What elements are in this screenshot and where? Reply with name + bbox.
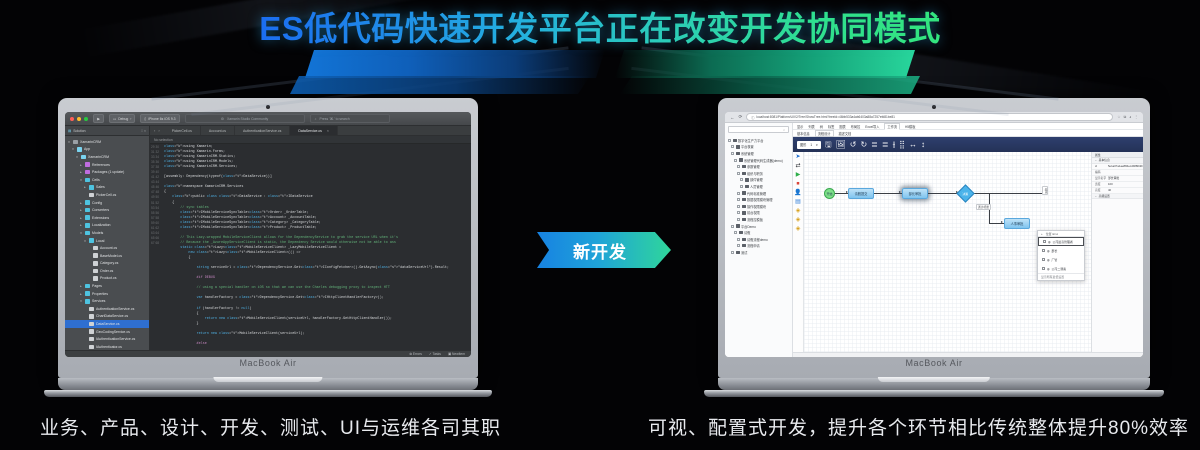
editor-nav-buttons[interactable]: ‹ › bbox=[150, 126, 164, 135]
solution-tree-node-label: Category.cs bbox=[100, 261, 118, 265]
solution-tree-node[interactable]: ▸Packages (1 update) bbox=[65, 168, 149, 176]
file-icon bbox=[89, 307, 94, 312]
start-icon[interactable]: ▶ bbox=[796, 172, 801, 179]
left-laptop-notch bbox=[213, 377, 322, 382]
folder-icon bbox=[89, 238, 94, 243]
lowcode-tree-node-label: 数字化生产力平台 bbox=[738, 138, 764, 143]
band-left-secondary bbox=[290, 76, 590, 94]
tree-twisty-icon[interactable]: ▸ bbox=[79, 216, 83, 220]
solution-tree-node[interactable]: ▾Cells bbox=[65, 176, 149, 184]
tree-twisty-icon[interactable]: ▸ bbox=[79, 170, 83, 174]
lowcode-tree-node[interactable]: 数据权限模块管理 bbox=[727, 196, 790, 203]
lowcode-tree-node[interactable]: 代码标准管理 bbox=[727, 190, 790, 197]
lowcode-menu-item-8[interactable]: H5模板 bbox=[905, 124, 915, 129]
url-text: localhost:8081/Platform/UIV2/Tree/ShowTr… bbox=[756, 115, 894, 119]
folder-icon bbox=[85, 200, 90, 205]
property-value[interactable]: 部长审批 bbox=[1108, 176, 1143, 181]
run-button[interactable]: ▶ bbox=[93, 114, 104, 123]
ide-status-bar: ⊗ Errors ✓ Tasks ▣ NewItem bbox=[65, 350, 471, 357]
folder-icon bbox=[733, 139, 737, 142]
flow-node-hr-label: 人事审批 bbox=[1011, 221, 1024, 226]
solution-tree-node[interactable]: ▸Pages bbox=[65, 282, 149, 290]
solution-tree-node-label: Extensions bbox=[92, 216, 109, 220]
search-icon: ⌕ bbox=[315, 117, 317, 121]
solution-tree-node[interactable]: ▸Config bbox=[65, 199, 149, 207]
expand-box-icon[interactable] bbox=[737, 192, 740, 195]
lowcode-tree-node[interactable]: 测试 bbox=[727, 249, 790, 256]
solution-tree-node-label: Properties bbox=[92, 292, 108, 296]
solution-tree-node-label: App bbox=[84, 147, 90, 151]
lowcode-tree-node[interactable]: 组织与职务 bbox=[727, 170, 790, 177]
lowcode-tree-node-label: 请假 bbox=[744, 230, 750, 235]
expand-box-icon[interactable] bbox=[737, 205, 740, 208]
editor-tab-1-label: Account.cs bbox=[209, 129, 226, 133]
folder-icon bbox=[85, 231, 90, 236]
left-laptop-screen: ▶ ▭ Debug › ▯ iPhone 6s iOS 9.3 ⚙ bbox=[65, 112, 471, 357]
flow-node-start[interactable]: 开始 bbox=[824, 188, 835, 199]
source-code[interactable]: class="k">using Xamarin; class="k">using… bbox=[161, 144, 471, 350]
solution-tree-node-label: Sales bbox=[96, 185, 105, 189]
ide-search-input[interactable]: ⌕ Press '⌘.' to search bbox=[310, 114, 390, 123]
align-center-h-icon[interactable]: ↔ bbox=[909, 141, 917, 149]
assignee-context-menu[interactable]: + 位置 ⊞ ⊟ ◍ 公司最高管理者 bbox=[1037, 230, 1085, 281]
lowcode-tree-node[interactable]: 前台权限 bbox=[727, 210, 790, 217]
redo-icon[interactable]: ↻ bbox=[860, 141, 867, 149]
tree-twisty-icon[interactable]: ▸ bbox=[79, 163, 83, 167]
editor-tab-2[interactable]: AuthenticationService.cs bbox=[235, 126, 290, 135]
end-icon[interactable]: ⏹ bbox=[796, 181, 799, 188]
solution-tree-node[interactable]: ▸Extensions bbox=[65, 214, 149, 222]
expand-box-icon[interactable] bbox=[737, 211, 740, 214]
address-bar[interactable]: ⓘ localhost:8081/Platform/UIV2/Tree/Show… bbox=[746, 113, 1113, 121]
tree-twisty-icon[interactable]: ▾ bbox=[79, 299, 83, 303]
solution-tree-node-label: IAuthenticationService.cs bbox=[96, 337, 135, 341]
lowcode-tree-node[interactable]: 流程申请 bbox=[727, 243, 790, 250]
file-icon bbox=[89, 314, 94, 319]
save-icon[interactable]: 🖫 bbox=[825, 141, 832, 149]
tree-twisty-icon[interactable]: ▾ bbox=[79, 231, 83, 235]
collapse-icon[interactable]: − bbox=[1095, 194, 1097, 198]
tree-twisty-icon[interactable]: ▸ bbox=[79, 201, 83, 205]
expand-box-icon[interactable] bbox=[737, 172, 740, 175]
status-errors[interactable]: ⊗ Errors bbox=[409, 352, 422, 356]
expand-box-icon[interactable] bbox=[731, 152, 734, 155]
context-menu-item-1[interactable]: ◍ 部长 bbox=[1038, 246, 1084, 255]
lowcode-tree-node[interactable]: 操作权限模块 bbox=[727, 203, 790, 210]
gateway3-icon[interactable]: ◈ bbox=[796, 226, 801, 233]
file-icon bbox=[89, 329, 94, 334]
checkbox-icon[interactable] bbox=[1042, 267, 1045, 270]
expand-box-icon[interactable] bbox=[737, 238, 740, 241]
title-underline-band bbox=[0, 50, 1200, 80]
solution-tree-node[interactable]: ▾App bbox=[65, 146, 149, 154]
image-icon[interactable]: 🖼 bbox=[836, 141, 846, 149]
lowcode-menu-item-7[interactable]: 工作流 bbox=[884, 123, 900, 130]
solution-tree-node[interactable]: DataService.cs bbox=[65, 320, 149, 328]
folder-icon bbox=[742, 205, 746, 208]
tree-twisty-icon[interactable]: ▾ bbox=[75, 155, 79, 159]
status-tasks[interactable]: ✓ Tasks bbox=[429, 352, 441, 356]
property-key: id bbox=[1092, 164, 1108, 169]
solution-tree-node[interactable]: IAuthenticator.cs bbox=[65, 343, 149, 350]
nav-back-icon[interactable]: ‹ bbox=[154, 128, 155, 133]
lowcode-tree-node[interactable]: 部件管理 bbox=[727, 177, 790, 184]
back-arrow-icon[interactable]: ← bbox=[730, 115, 735, 120]
lowcode-menu-item-5[interactable]: 布局控 bbox=[851, 124, 861, 129]
flow-canvas[interactable]: 通过/拒绝 结束 开始 请假提交 bbox=[804, 152, 1091, 352]
folder-icon bbox=[739, 231, 743, 234]
left-laptop-base bbox=[58, 378, 478, 390]
flow-node-submit[interactable]: 请假提交 bbox=[848, 188, 874, 199]
checkbox-icon[interactable] bbox=[1042, 258, 1045, 261]
flow-node-manager[interactable]: 部长审批 bbox=[902, 188, 928, 199]
lowcode-tree-node-label: 流程控模板 bbox=[747, 217, 763, 222]
editor-tab-3[interactable]: DataService.cs× bbox=[290, 126, 338, 135]
file-icon bbox=[93, 261, 98, 266]
align-center-v-icon[interactable]: ↕ bbox=[921, 141, 925, 149]
lowcode-tree-node[interactable]: 流程控模板 bbox=[727, 216, 790, 223]
left-laptop-lid: ▶ ▭ Debug › ▯ iPhone 6s iOS 9.3 ⚙ bbox=[58, 98, 478, 378]
status-tasks-label: Tasks bbox=[433, 352, 441, 356]
band-right-secondary bbox=[620, 76, 920, 94]
subprocess-icon[interactable]: ▤ bbox=[795, 199, 801, 206]
band-left bbox=[305, 50, 605, 78]
solution-tree-node-label: AuthenticationService.cs bbox=[96, 307, 134, 311]
lowcode-tree-node-label: 前台权限 bbox=[747, 210, 760, 215]
solution-tree-node[interactable]: ▸Converters bbox=[65, 206, 149, 214]
minimize-dot-icon[interactable] bbox=[77, 117, 81, 121]
context-menu-item-2[interactable]: ◍ 厂管 bbox=[1038, 255, 1084, 264]
configuration-selector[interactable]: ▭ Debug › bbox=[109, 114, 135, 123]
chevron-down-icon[interactable]: ▾ bbox=[816, 143, 818, 147]
expand-box-icon[interactable] bbox=[728, 139, 731, 142]
distribute-v-icon[interactable]: ⣿ bbox=[899, 141, 905, 149]
right-laptop-foot bbox=[704, 390, 1164, 397]
lowcode-tree-node[interactable]: 人员管理 bbox=[727, 183, 790, 190]
solution-tree-node[interactable]: ▸References bbox=[65, 161, 149, 169]
right-laptop-brand: MacBook Air bbox=[725, 357, 1143, 368]
shape-selector[interactable]: 图形 1 ▾ bbox=[797, 141, 821, 149]
ide-toolbar: ▶ ▭ Debug › ▯ iPhone 6s iOS 9.3 ⚙ bbox=[65, 112, 471, 126]
property-value[interactable] bbox=[1108, 170, 1143, 175]
file-icon bbox=[89, 337, 94, 342]
close-icon[interactable]: × bbox=[327, 129, 329, 133]
status-gear-icon: ⚙ bbox=[221, 117, 224, 121]
solution-tree[interactable]: ▾XamarinCRM▾App▾XamarinCRM▸References▸Pa… bbox=[65, 136, 150, 350]
folder-icon bbox=[742, 238, 746, 241]
tree-twisty-icon[interactable]: ▸ bbox=[79, 223, 83, 227]
context-menu-item-0[interactable]: ◍ 公司最高管理者 bbox=[1038, 237, 1084, 246]
collapse-icon[interactable]: − bbox=[1095, 158, 1097, 162]
folder-icon bbox=[85, 284, 90, 289]
distribute-h-icon[interactable]: ⫲ bbox=[893, 141, 896, 149]
expand-box-icon[interactable] bbox=[737, 218, 740, 221]
property-value[interactable]: 40 bbox=[1108, 188, 1143, 193]
link-label-0: 通过/拒绝 bbox=[976, 204, 991, 210]
lowcode-menu-item-6[interactable]: Excel导入 bbox=[865, 124, 879, 129]
lowcode-tree[interactable]: 数字化生产力平台平台核置系统管理系统管理代码生成器(demo)参数管理组织与职务… bbox=[725, 136, 792, 357]
code-area[interactable]: 29 30 31 32 33 34 35 36 37 38 39 40 41 4… bbox=[150, 144, 471, 350]
lowcode-tree-node[interactable]: 请假 bbox=[727, 229, 790, 236]
lowcode-tree-node[interactable]: 平台核置 bbox=[727, 144, 790, 151]
context-menu-footer[interactable]: 显示所有最低设置 bbox=[1038, 273, 1084, 280]
menu-icon[interactable]: ⋮ bbox=[1134, 115, 1138, 119]
sol-icon bbox=[73, 140, 78, 145]
folder-icon bbox=[736, 152, 740, 155]
solution-tree-node[interactable]: Account.cs bbox=[65, 244, 149, 252]
lowcode-menu-item-3[interactable]: 标签 bbox=[828, 124, 834, 129]
extension-icon[interactable]: ⧉ bbox=[1124, 115, 1127, 119]
solution-tree-node[interactable]: ▾XamarinCRM bbox=[65, 138, 149, 146]
play-icon: ▶ bbox=[97, 117, 100, 121]
lowcode-tree-node-label: 参数管理 bbox=[747, 164, 760, 169]
person-icon: ◍ bbox=[1047, 267, 1050, 271]
folder-icon bbox=[745, 185, 749, 188]
expand-box-icon[interactable] bbox=[731, 225, 734, 228]
lowcode-menu-item-2[interactable]: 树 bbox=[820, 124, 823, 129]
folder-icon bbox=[85, 299, 90, 304]
lowcode-tree-node[interactable]: 平台Demo bbox=[727, 223, 790, 230]
flow-node-decision-label: 决策 bbox=[963, 191, 969, 195]
tree-twisty-icon[interactable]: ▾ bbox=[79, 178, 83, 182]
expand-box-icon[interactable] bbox=[740, 178, 743, 181]
status-newitem[interactable]: ▣ NewItem bbox=[448, 352, 465, 356]
bookmark-icon[interactable]: ☆ bbox=[1117, 115, 1120, 119]
lowcode-browser: ← ⟳ ⓘ localhost:8081/Platform/UIV2/Tree/… bbox=[725, 112, 1143, 357]
lowcode-tree-node-label: 操作权限模块 bbox=[747, 204, 766, 209]
lowcode-tree-node-label: 平台Demo bbox=[741, 224, 756, 229]
file-icon bbox=[93, 269, 98, 274]
lowcode-tree-node-label: 代码标准管理 bbox=[747, 191, 766, 196]
solution-tree-node-label: Local bbox=[96, 239, 104, 243]
lowcode-tree-node-label: 请假流程demo bbox=[747, 237, 768, 242]
link-decision-right bbox=[972, 193, 1044, 194]
solution-tree-node[interactable]: ▾Services bbox=[65, 297, 149, 305]
lowcode-subtab-2[interactable]: 描述文档 bbox=[839, 131, 852, 136]
properties-rows: id5e1a07a1ae884ecdb8804076编码显示名字部长审批宽度10… bbox=[1092, 164, 1143, 194]
transition-arrow-banner: 新开发 bbox=[537, 232, 671, 268]
solution-tree-node[interactable]: AuthenticationService.cs bbox=[65, 305, 149, 313]
gateway2-icon[interactable]: ◈ bbox=[796, 217, 801, 224]
tree-twisty-icon[interactable]: ▸ bbox=[79, 292, 83, 296]
solution-tree-node-label: PickerCell.cs bbox=[96, 193, 116, 197]
tree-twisty-icon[interactable]: ▸ bbox=[79, 284, 83, 288]
maximize-dot-icon[interactable] bbox=[84, 117, 88, 121]
lowcode-tree-node-label: 系统管理 bbox=[741, 151, 754, 156]
folder-icon bbox=[736, 224, 740, 227]
flow-node-start-label: 开始 bbox=[826, 192, 832, 196]
lowcode-tree-node-label: 数据权限模块管理 bbox=[747, 197, 773, 202]
lowcode-tree-node[interactable]: 数字化生产力平台 bbox=[727, 137, 790, 144]
tree-twisty-icon[interactable]: ▸ bbox=[79, 208, 83, 212]
folder-icon bbox=[742, 244, 746, 247]
folder-icon bbox=[742, 191, 746, 194]
lowcode-footer bbox=[793, 352, 1143, 357]
solution-tree-node[interactable]: Product.cs bbox=[65, 275, 149, 283]
tree-twisty-icon[interactable]: ▾ bbox=[83, 239, 87, 243]
properties-section-advanced[interactable]: − 高级设置 bbox=[1092, 194, 1143, 200]
status-newitem-label: NewItem bbox=[452, 352, 465, 356]
flow-node-manager-label: 部长审批 bbox=[909, 191, 922, 196]
nav-forward-icon[interactable]: › bbox=[158, 128, 159, 133]
pad-pin-icon[interactable]: ⌷ × bbox=[141, 129, 146, 133]
lowcode-tree-node[interactable]: 系统管理代码生成器(demo) bbox=[727, 157, 790, 164]
lowcode-menu-bar[interactable]: 显示列表树标签图表布局控Excel导入工作流H5模板 bbox=[793, 123, 1143, 130]
arrowhead-4 bbox=[1001, 221, 1003, 223]
expand-box-icon[interactable] bbox=[734, 159, 737, 162]
device-label: iPhone 6s iOS 9.3 bbox=[148, 117, 175, 121]
gateway-icon[interactable]: ◈ bbox=[796, 208, 801, 215]
folder-icon bbox=[742, 165, 746, 168]
folder-icon bbox=[85, 208, 90, 213]
editor-breadcrumb: No selection bbox=[150, 136, 471, 144]
device-icon: ▯ bbox=[144, 117, 146, 121]
left-laptop-brand: MacBook Air bbox=[65, 357, 471, 368]
lowcode-tree-node[interactable]: 系统管理 bbox=[727, 150, 790, 157]
expand-box-icon[interactable] bbox=[734, 231, 737, 234]
poster-stage: ES低代码快速开发平台正在改变开发协同模式 ▶ bbox=[0, 0, 1200, 450]
solution-tree-node[interactable]: GeoCodingService.cs bbox=[65, 328, 149, 336]
config-icon: ▭ bbox=[113, 117, 116, 121]
solution-tree-node-label: Models bbox=[92, 231, 103, 235]
lowcode-tree-node-label: 人员管理 bbox=[750, 184, 763, 189]
solution-header-label: Solution bbox=[73, 129, 85, 133]
context-menu-item-3[interactable]: ◍ 公司二测案 bbox=[1038, 264, 1084, 273]
status-errors-label: Errors bbox=[413, 352, 422, 356]
reload-icon[interactable]: ⟳ bbox=[739, 114, 743, 120]
ide-tab-strip: ▤ Solution ⌷ × ‹ › PickerCell.cs Account… bbox=[65, 126, 471, 136]
checkbox-icon[interactable] bbox=[1043, 240, 1046, 243]
context-menu-item-2-label: 厂管 bbox=[1052, 258, 1058, 262]
link-manager-decision bbox=[928, 193, 959, 194]
left-laptop: ▶ ▭ Debug › ▯ iPhone 6s iOS 9.3 ⚙ bbox=[58, 98, 478, 397]
tree-twisty-icon[interactable]: ▾ bbox=[71, 147, 75, 151]
solution-tree-node[interactable]: ▾Models bbox=[65, 229, 149, 237]
shape-palette[interactable]: ➤ ⇄ ▶ ⏹ 👤 ▤ ◈ ◈ ◈ bbox=[793, 152, 804, 352]
expand-box-icon[interactable] bbox=[737, 198, 740, 201]
lowcode-subtab-0[interactable]: 基本信息 bbox=[797, 131, 810, 136]
browser-controls[interactable]: ☆ ⧉ ◕ ⋮ bbox=[1117, 115, 1138, 119]
right-laptop-lid: ← ⟳ ⓘ localhost:8081/Platform/UIV2/Tree/… bbox=[718, 98, 1150, 378]
lowcode-tree-node[interactable]: 参数管理 bbox=[727, 163, 790, 170]
left-laptop-foot bbox=[44, 390, 492, 397]
solution-tree-node[interactable]: ▸Properties bbox=[65, 290, 149, 298]
solution-tree-node[interactable]: IAuthenticationService.cs bbox=[65, 335, 149, 343]
property-value[interactable]: 100 bbox=[1108, 182, 1143, 187]
lowcode-menu-item-4[interactable]: 图表 bbox=[839, 124, 845, 129]
property-value[interactable]: 5e1a07a1ae884ecdb8804076 bbox=[1108, 164, 1143, 169]
profile-icon[interactable]: ◕ bbox=[1129, 115, 1131, 119]
context-add-icon[interactable]: + bbox=[1041, 232, 1043, 236]
expand-box-icon[interactable] bbox=[731, 251, 734, 254]
expand-box-icon[interactable] bbox=[737, 165, 740, 168]
pointer-icon[interactable]: ➤ bbox=[795, 154, 800, 161]
solution-tree-node[interactable]: BaseModel.cs bbox=[65, 252, 149, 260]
solution-tree-node-label: Config bbox=[92, 201, 102, 205]
lowcode-menu-item-1[interactable]: 列表 bbox=[808, 124, 814, 129]
designer-workspace: ➤ ⇄ ▶ ⏹ 👤 ▤ ◈ ◈ ◈ bbox=[793, 152, 1143, 352]
page-title: ES低代码快速开发平台正在改变开发协同模式 bbox=[259, 2, 941, 50]
device-selector[interactable]: ▯ iPhone 6s iOS 9.3 bbox=[140, 114, 179, 123]
undo-icon[interactable]: ↺ bbox=[850, 141, 857, 149]
connector-icon[interactable]: ⇄ bbox=[795, 163, 800, 170]
solution-tree-node-label: Account.cs bbox=[100, 246, 117, 250]
lowcode-sub-tabs[interactable]: 基本信息流程设计描述文档 bbox=[793, 130, 1143, 137]
solution-tree-node-label: XamarinCRM bbox=[80, 140, 101, 144]
solution-tree-node-label: GeoCodingService.cs bbox=[96, 330, 130, 334]
folder-icon bbox=[85, 215, 90, 220]
expand-box-icon[interactable] bbox=[737, 244, 740, 247]
right-laptop-base bbox=[718, 378, 1150, 390]
solution-tree-node[interactable]: ▾Local bbox=[65, 237, 149, 245]
tree-twisty-icon[interactable]: ▸ bbox=[83, 185, 87, 189]
right-caption: 可视、配置式开发，提升各个环节相比传统整体提升80%效率 bbox=[648, 413, 1189, 440]
solution-tree-node-label: Localization bbox=[92, 223, 110, 227]
solution-tree-node-label: XamarinCRM bbox=[88, 155, 109, 159]
solution-tree-node-label: Packages (1 update) bbox=[92, 170, 124, 174]
tree-twisty-icon[interactable]: ▾ bbox=[67, 140, 71, 144]
browser-chrome: ← ⟳ ⓘ localhost:8081/Platform/UIV2/Tree/… bbox=[725, 112, 1143, 123]
context-menu-item-0-label: 公司最高管理者 bbox=[1053, 240, 1073, 244]
flow-node-hr[interactable]: 人事审批 bbox=[1004, 218, 1030, 229]
left-caption: 业务、产品、设计、开发、测试、UI与运维各司其职 bbox=[40, 413, 501, 440]
solution-tree-node[interactable]: PickerCell.cs bbox=[65, 191, 149, 199]
editor-tab-1[interactable]: Account.cs bbox=[201, 126, 235, 135]
code-editor: No selection 29 30 31 32 33 34 35 36 37 … bbox=[150, 136, 471, 350]
folder-icon bbox=[89, 185, 94, 190]
align-left-icon[interactable]: ≣ bbox=[871, 141, 878, 149]
context-menu-title: 位置 ⊞ ⊟ bbox=[1046, 232, 1058, 236]
folder-icon bbox=[742, 198, 746, 201]
tree-search-input[interactable]: ⌕ bbox=[728, 126, 789, 133]
editor-tab-0[interactable]: PickerCell.cs bbox=[164, 126, 201, 135]
expand-box-icon[interactable] bbox=[740, 185, 743, 188]
status-text: Xamarin Studio Community bbox=[227, 117, 268, 121]
solution-tree-node-label: Order.cs bbox=[100, 269, 113, 273]
property-key: 编码 bbox=[1092, 170, 1108, 175]
solution-tree-node[interactable]: Category.cs bbox=[65, 260, 149, 268]
lowcode-tree-node-label: 组织与职务 bbox=[747, 171, 763, 176]
folderp-icon bbox=[85, 170, 90, 175]
solution-tree-node-label: Converters bbox=[92, 208, 109, 212]
solution-tree-node[interactable]: ▸Sales bbox=[65, 184, 149, 192]
line-number-gutter: 29 30 31 32 33 34 35 36 37 38 39 40 41 4… bbox=[150, 144, 161, 350]
user-task-icon[interactable]: 👤 bbox=[794, 190, 801, 197]
solution-tree-node-label: ChartDataService.cs bbox=[96, 314, 128, 318]
right-laptop: ← ⟳ ⓘ localhost:8081/Platform/UIV2/Tree/… bbox=[718, 98, 1150, 397]
align-right-icon[interactable]: ≣ bbox=[882, 141, 889, 149]
person-icon: ◍ bbox=[1048, 240, 1051, 244]
solution-tree-node[interactable]: ▸Localization bbox=[65, 222, 149, 230]
checkbox-icon[interactable] bbox=[1042, 249, 1045, 252]
right-laptop-screen: ← ⟳ ⓘ localhost:8081/Platform/UIV2/Tree/… bbox=[725, 112, 1143, 357]
lowcode-tree-node-label: 平台核置 bbox=[741, 144, 754, 149]
lowcode-subtab-1[interactable]: 流程设计 bbox=[815, 130, 834, 137]
flow-node-decision[interactable]: 决策 bbox=[956, 184, 974, 202]
solution-tree-node[interactable]: ChartDataService.cs bbox=[65, 313, 149, 321]
lowcode-tree-node[interactable]: 请假流程demo bbox=[727, 236, 790, 243]
expand-box-icon[interactable] bbox=[731, 145, 734, 148]
config-label: Debug bbox=[118, 117, 128, 121]
lowcode-menu-item-0[interactable]: 显示 bbox=[797, 124, 803, 129]
folder-icon bbox=[736, 145, 740, 148]
editor-tab-2-label: AuthenticationService.cs bbox=[243, 129, 281, 133]
window-controls[interactable] bbox=[70, 117, 88, 121]
close-dot-icon[interactable] bbox=[70, 117, 74, 121]
solution-tree-node[interactable]: Order.cs bbox=[65, 267, 149, 275]
xamarin-studio-ide: ▶ ▭ Debug › ▯ iPhone 6s iOS 9.3 ⚙ bbox=[65, 112, 471, 357]
solution-tree-node[interactable]: ▾XamarinCRM bbox=[65, 153, 149, 161]
